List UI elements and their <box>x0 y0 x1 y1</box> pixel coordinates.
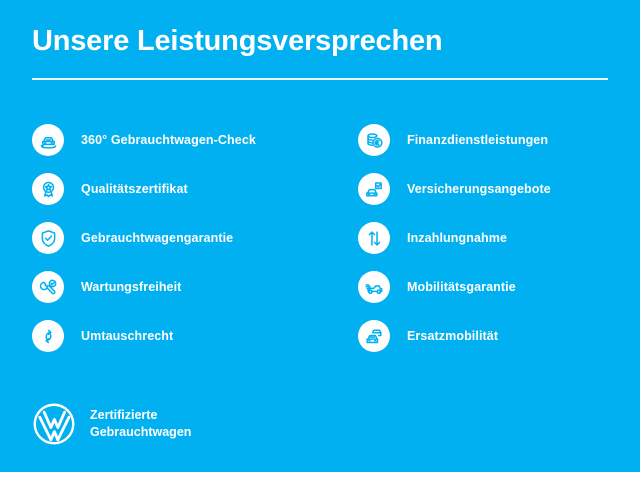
page-title: Unsere Leistungsversprechen <box>32 26 608 58</box>
promise-item-mobilitaetsgarantie[interactable]: Mobilitätsgarantie <box>358 267 640 307</box>
promise-label: Gebrauchtwagengarantie <box>81 231 233 246</box>
promise-label: 360° Gebrauchtwagen-Check <box>81 133 256 148</box>
promises-column-left: 360° Gebrauchtwagen-Check Qualitätszerti… <box>32 120 317 365</box>
award-rosette-icon <box>32 173 64 205</box>
brand-footer: Zertifizierte Gebrauchtwagen <box>32 402 191 446</box>
promise-label: Inzahlungnahme <box>407 231 507 246</box>
promise-label: Umtauschrecht <box>81 329 173 344</box>
shield-check-icon <box>32 222 64 254</box>
promise-label: Mobilitätsgarantie <box>407 280 516 295</box>
car-360-check-icon <box>32 124 64 156</box>
promise-label: Versicherungsangebote <box>407 182 551 197</box>
promise-item-versicherungsangebote[interactable]: Versicherungsangebote <box>358 169 640 209</box>
header: Unsere Leistungsversprechen <box>32 26 608 80</box>
tow-truck-icon <box>358 271 390 303</box>
brand-text: Zertifizierte Gebrauchtwagen <box>90 407 191 441</box>
brand-line-1: Zertifizierte <box>90 407 191 424</box>
promise-label: Wartungsfreiheit <box>81 280 181 295</box>
promise-item-umtauschrecht[interactable]: Umtauschrecht <box>32 316 317 356</box>
volkswagen-logo-icon <box>32 402 76 446</box>
bottom-white-strip <box>0 472 640 480</box>
promise-item-gebrauchtwagengarantie[interactable]: Gebrauchtwagengarantie <box>32 218 317 258</box>
promise-item-gebrauchtwagen-check[interactable]: 360° Gebrauchtwagen-Check <box>32 120 317 160</box>
promise-label: Ersatzmobilität <box>407 329 498 344</box>
arrows-up-down-icon <box>358 222 390 254</box>
promise-item-inzahlungnahme[interactable]: Inzahlungnahme <box>358 218 640 258</box>
promise-label: Qualitätszertifikat <box>81 182 188 197</box>
two-cars-icon <box>358 320 390 352</box>
car-document-check-icon <box>358 173 390 205</box>
brand-line-2: Gebrauchtwagen <box>90 424 191 441</box>
title-divider <box>32 78 608 80</box>
promise-item-ersatzmobilitaet[interactable]: Ersatzmobilität <box>358 316 640 356</box>
slide-canvas: Unsere Leistungsversprechen 360° Gebrauc… <box>0 0 640 472</box>
promises-column-right: Finanzdienstleistungen Versicherungsange… <box>358 120 640 365</box>
exchange-arrows-icon <box>32 320 64 352</box>
promise-item-wartungsfreiheit[interactable]: Wartungsfreiheit <box>32 267 317 307</box>
coins-euro-icon <box>358 124 390 156</box>
promise-label: Finanzdienstleistungen <box>407 133 548 148</box>
promise-item-qualitaetszertifikat[interactable]: Qualitätszertifikat <box>32 169 317 209</box>
wrench-check-icon <box>32 271 64 303</box>
promise-item-finanzdienstleistungen[interactable]: Finanzdienstleistungen <box>358 120 640 160</box>
